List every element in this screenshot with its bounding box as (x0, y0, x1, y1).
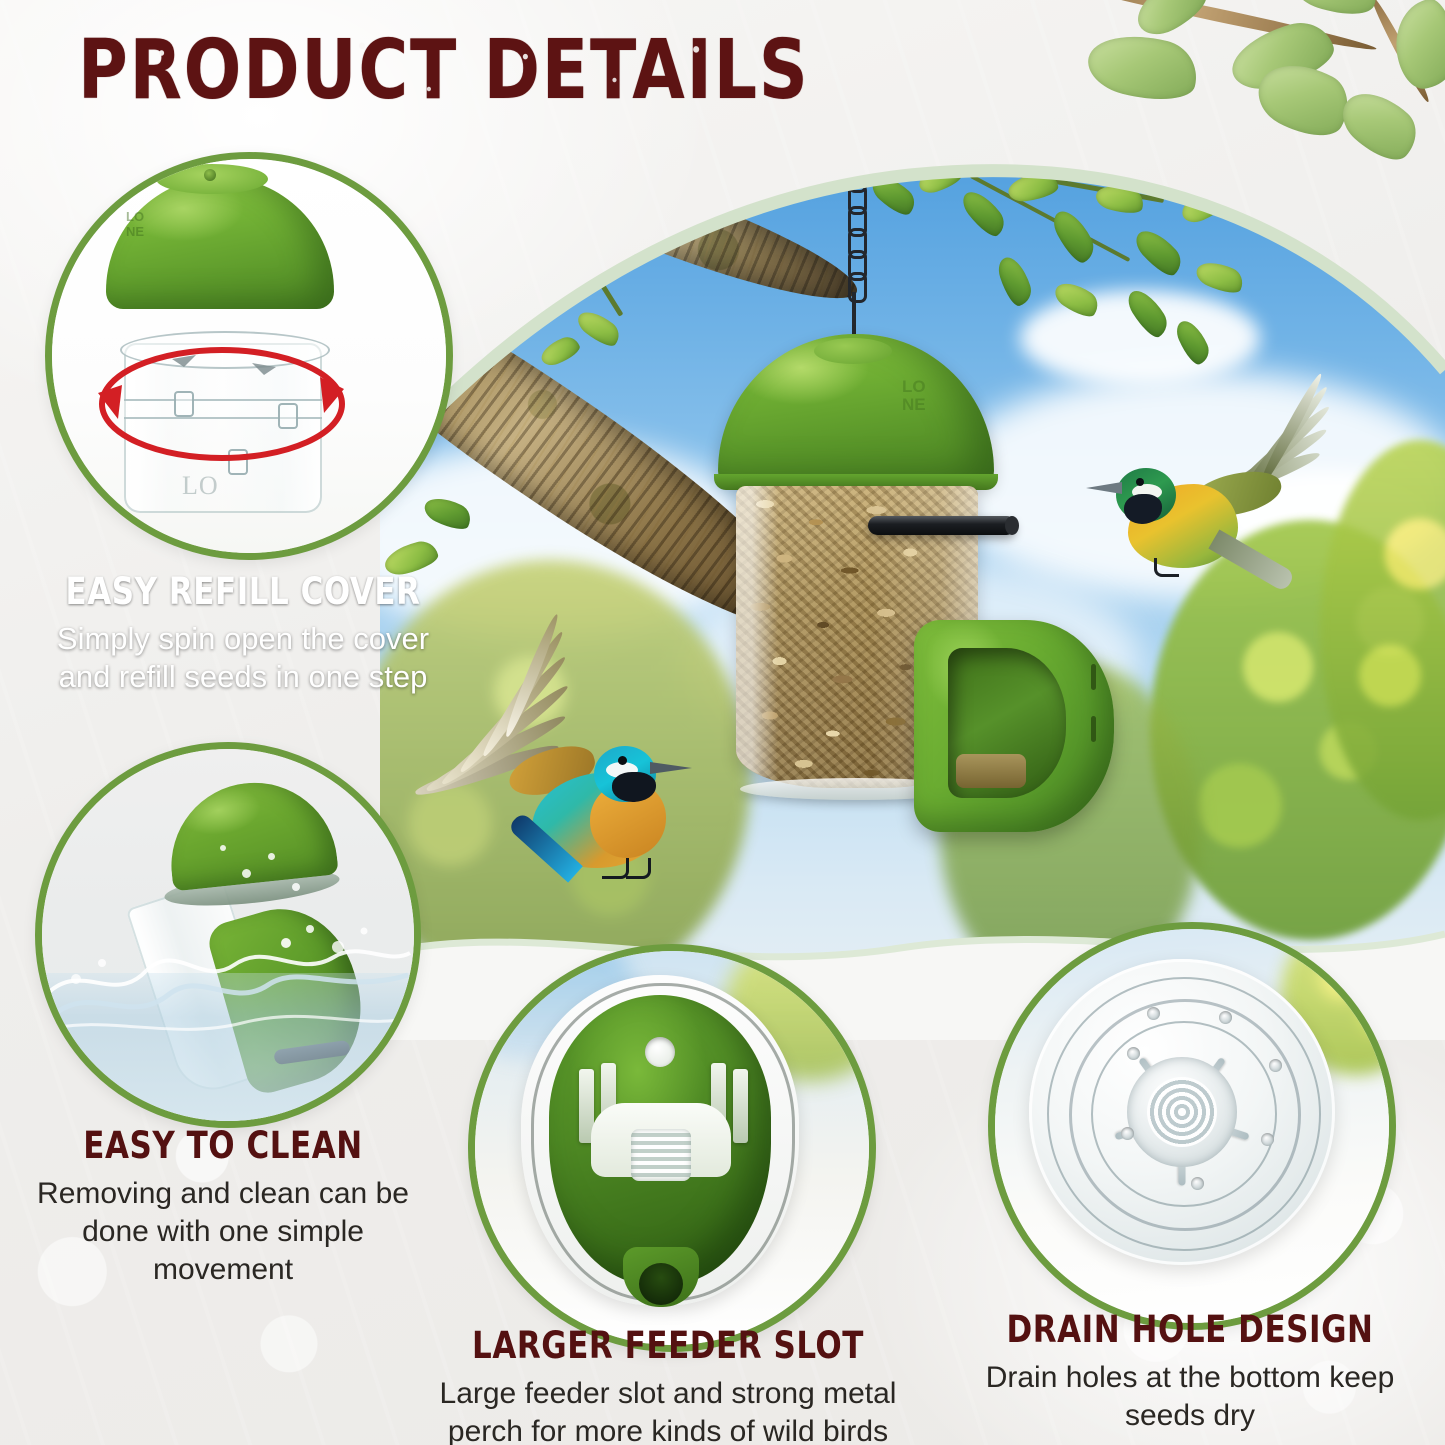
inset-drain-hole-design (988, 922, 1396, 1330)
perch-tip (1005, 516, 1019, 535)
drain-hole (1219, 1011, 1232, 1024)
caption-body-line-1: Removing and clean can be (8, 1175, 438, 1213)
perch-socket-hole (639, 1263, 683, 1305)
caption-heading: DRAIN HOLE DESIGN (958, 1308, 1423, 1351)
drain-hole (1147, 1007, 1160, 1020)
caption-body-line-1: Simply spin open the cover (28, 620, 458, 658)
caption-heading: EASY REFILL COVER (43, 570, 443, 613)
caption-body-line-1: Large feeder slot and strong metal (418, 1375, 918, 1413)
dome-screw (204, 169, 216, 181)
bird-beak (1086, 482, 1122, 494)
drain-hole (1261, 1133, 1274, 1146)
leaf (995, 253, 1035, 309)
leaf (1332, 78, 1428, 172)
bird-foot (602, 858, 629, 879)
water-splash-icon (42, 909, 414, 1049)
dome-highlight (814, 338, 892, 364)
svg-text:NE: NE (126, 224, 144, 239)
bird-eye (1136, 478, 1144, 486)
seed-visible-in-port (956, 754, 1026, 788)
caption-heading: LARGER FEEDER SLOT (436, 1324, 901, 1367)
svg-text:LO: LO (126, 209, 144, 224)
inset-content: LO NE LO (52, 159, 446, 553)
bird-right (1080, 432, 1370, 642)
leaf (1131, 223, 1188, 282)
leaf (1193, 255, 1247, 298)
inset-content (995, 929, 1389, 1323)
inset-easy-to-clean (35, 742, 421, 1128)
bird-eye (618, 756, 627, 765)
port-slot (1091, 716, 1096, 742)
caption-body-line-2: done with one simple (8, 1213, 438, 1251)
water-droplet (268, 853, 275, 860)
feeding-port-opening (948, 648, 1066, 798)
threaded-post (631, 1129, 691, 1181)
rotation-arrow-icon (88, 333, 356, 475)
inset-content (475, 951, 869, 1345)
metal-perch (868, 516, 1016, 535)
chain-link (848, 140, 867, 171)
leaf (867, 169, 920, 220)
drain-hole (1127, 1047, 1140, 1060)
port-slot (1091, 664, 1096, 690)
svg-text:NE: NE (902, 395, 926, 414)
bird-tail (1208, 529, 1295, 592)
leaf (1390, 0, 1445, 92)
leaf (1051, 275, 1104, 322)
bird-foot (626, 858, 651, 879)
bird-beak (650, 762, 692, 774)
caption-body-line-2: seeds dry (940, 1397, 1440, 1435)
page-title: PRODUCT DETAILS (78, 30, 810, 112)
caption-body-line-3: movement (8, 1251, 438, 1289)
caption-body-line-2: and refill seeds in one step (28, 658, 458, 696)
caption-heading: EASY TO CLEAN (23, 1124, 423, 1167)
water-droplet (220, 845, 226, 851)
caption-easy-refill-cover: EASY REFILL COVER Simply spin open the c… (28, 570, 458, 696)
brand-logo-embossed: LO NE (900, 374, 946, 414)
caption-larger-feeder-slot: LARGER FEEDER SLOT Large feeder slot and… (418, 1324, 918, 1445)
caption-drain-hole-design: DRAIN HOLE DESIGN Drain holes at the bot… (940, 1308, 1440, 1435)
brand-logo-embossed: LO NE (125, 207, 159, 239)
inset-larger-feeder-slot (468, 944, 876, 1352)
leaf (1123, 284, 1173, 342)
infographic-canvas: PRODUCT DETAILS (0, 0, 1445, 1445)
caption-easy-to-clean: EASY TO CLEAN Removing and clean can be … (8, 1124, 438, 1288)
feeding-port (914, 620, 1114, 832)
water-droplet (242, 869, 251, 878)
svg-text:LO: LO (902, 377, 926, 396)
threaded-center (1147, 1077, 1217, 1147)
drain-hole (1191, 1177, 1204, 1190)
bird-feeder-product: LO NE (718, 334, 1118, 814)
leaf (1286, 0, 1383, 24)
leaf (915, 160, 964, 196)
drain-hole (1121, 1127, 1134, 1140)
guide-rail (733, 1069, 748, 1143)
water-droplet (292, 883, 300, 891)
caption-body-line-1: Drain holes at the bottom keep (940, 1359, 1440, 1397)
drain-hole (1269, 1059, 1282, 1072)
leaf (1173, 316, 1214, 368)
inset-content (42, 749, 414, 1121)
leaf (1048, 205, 1099, 268)
hanging-chain (846, 140, 866, 340)
inset-easy-refill-cover: LO NE LO (45, 152, 453, 560)
cylinder-brand-mark: LO (182, 471, 219, 501)
caption-body-line-2: perch for more kinds of wild birds (418, 1413, 918, 1445)
chain-link (848, 272, 867, 303)
leaf (1082, 24, 1204, 111)
vent-hole (645, 1037, 675, 1067)
bird-foot (1154, 558, 1179, 577)
hero-photo: LO NE (380, 140, 1445, 1000)
